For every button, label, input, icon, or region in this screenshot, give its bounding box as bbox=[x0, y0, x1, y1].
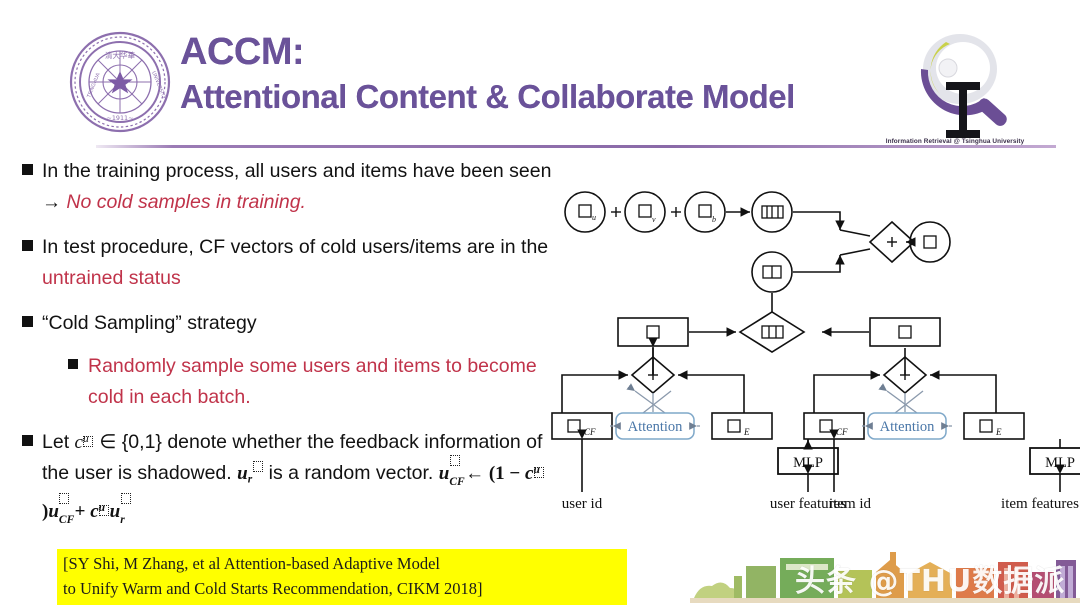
slide-header: 清大华華 ~1911~ TSINGHUA UNIVERSITY ACCM: At… bbox=[0, 0, 1080, 150]
bullet-item-4: Let cu ∈ {0,1} denote whether the feedba… bbox=[22, 427, 552, 527]
arrow-glyph: → bbox=[42, 192, 61, 213]
tsinghua-seal-logo: 清大华華 ~1911~ TSINGHUA UNIVERSITY bbox=[68, 28, 172, 136]
bullet-item-1: In the training process, all users and i… bbox=[22, 156, 552, 218]
label-item-id-real: item id bbox=[829, 496, 872, 512]
citation-line-2: to Unify Warm and Cold Starts Recommenda… bbox=[63, 576, 621, 601]
page-title: ACCM: bbox=[180, 30, 880, 74]
diagram-concat-diamond bbox=[740, 312, 804, 352]
svg-text:清大华華: 清大华華 bbox=[105, 50, 135, 60]
sub-bullet-square-icon bbox=[68, 359, 78, 369]
bullet-square-icon bbox=[22, 240, 33, 251]
node-sub-cf: CF bbox=[584, 427, 596, 437]
bullet-4-tail: is a random vector. bbox=[263, 462, 439, 484]
bullet-4-lead: Let bbox=[42, 431, 75, 453]
bullet-2-text: In test procedure, CF vectors of cold us… bbox=[42, 232, 552, 294]
attention-label-item: Attention bbox=[880, 419, 936, 435]
diagram-box-user-vector bbox=[618, 318, 688, 346]
bullet-list: In the training process, all users and i… bbox=[22, 156, 552, 541]
bullet-2-emphasis: untrained status bbox=[42, 267, 181, 289]
bullet-square-icon bbox=[22, 164, 33, 175]
node-sub-e: E bbox=[995, 427, 1002, 437]
mlp-label-user: MLP bbox=[793, 455, 823, 471]
bullet-1-lead: In the training process, all users and i… bbox=[42, 160, 551, 182]
diagram-box-user-e bbox=[712, 413, 772, 439]
diagram-node-circle bbox=[685, 192, 725, 232]
bullet-1-text: In the training process, all users and i… bbox=[42, 156, 552, 218]
bullet-item-2: In test procedure, CF vectors of cold us… bbox=[22, 232, 552, 294]
bullet-2-lead: In test procedure, CF vectors of cold us… bbox=[42, 236, 548, 258]
diagram-box-item-cf bbox=[804, 413, 864, 439]
citation-line-1: [SY Shi, M Zhang, et al Attention-based … bbox=[63, 551, 621, 576]
node-sub-e: E bbox=[743, 427, 750, 437]
svg-text:TSINGHUA: TSINGHUA bbox=[86, 72, 102, 100]
information-retrieval-logo bbox=[888, 24, 1028, 148]
bullet-item-3-sub: Randomly sample some users and items to … bbox=[68, 351, 552, 413]
accm-architecture-diagram: Attention Attention MLP MLP user id user… bbox=[540, 160, 1080, 520]
missing-glyph-box bbox=[59, 493, 69, 504]
diagram-node-circle bbox=[625, 192, 665, 232]
missing-glyph-box bbox=[99, 505, 109, 516]
missing-glyph-box bbox=[121, 493, 131, 504]
diagram-box-user-cf bbox=[552, 413, 612, 439]
bullet-item-3: “Cold Sampling” strategy bbox=[22, 308, 552, 339]
slide-canvas: 清大华華 ~1911~ TSINGHUA UNIVERSITY ACCM: At… bbox=[0, 0, 1080, 609]
label-item-features: item features bbox=[1001, 496, 1079, 512]
math-c-u: cu bbox=[75, 432, 94, 453]
diagram-node-circle bbox=[565, 192, 605, 232]
citation-box: [SY Shi, M Zhang, et al Attention-based … bbox=[57, 549, 627, 605]
svg-text:v: v bbox=[652, 215, 656, 224]
mlp-label-item: MLP bbox=[1045, 455, 1075, 471]
ir-logo-caption: Information Retrieval @ Tsinghua Univers… bbox=[880, 138, 1030, 145]
attention-label-user: Attention bbox=[628, 419, 684, 435]
svg-text:u: u bbox=[592, 213, 596, 222]
watermark-text: 头条 @THU数据派 bbox=[795, 556, 1065, 600]
label-user-id: user id bbox=[562, 496, 603, 512]
bullet-3-text: “Cold Sampling” strategy bbox=[42, 308, 257, 339]
bullet-4-text: Let cu ∈ {0,1} denote whether the feedba… bbox=[42, 427, 552, 527]
missing-glyph-box bbox=[253, 461, 263, 472]
bullet-1-emphasis: No cold samples in training. bbox=[66, 191, 306, 213]
bullet-square-icon bbox=[22, 316, 33, 327]
node-sub-cf: CF bbox=[836, 427, 848, 437]
math-u-r: ur bbox=[237, 463, 263, 484]
bullet-square-icon bbox=[22, 435, 33, 446]
title-block: ACCM: Attentional Content & Collaborate … bbox=[180, 30, 880, 118]
svg-text:b: b bbox=[712, 215, 716, 224]
missing-glyph-box bbox=[450, 455, 460, 466]
svg-text:~1911~: ~1911~ bbox=[107, 114, 134, 122]
page-subtitle: Attentional Content & Collaborate Model bbox=[180, 76, 880, 118]
bullet-3-sub-text: Randomly sample some users and items to … bbox=[88, 351, 552, 413]
diagram-box-item-vector bbox=[870, 318, 940, 346]
diagram-box-item-e bbox=[964, 413, 1024, 439]
missing-glyph-box bbox=[83, 436, 93, 447]
diagram-node-output bbox=[910, 222, 950, 262]
